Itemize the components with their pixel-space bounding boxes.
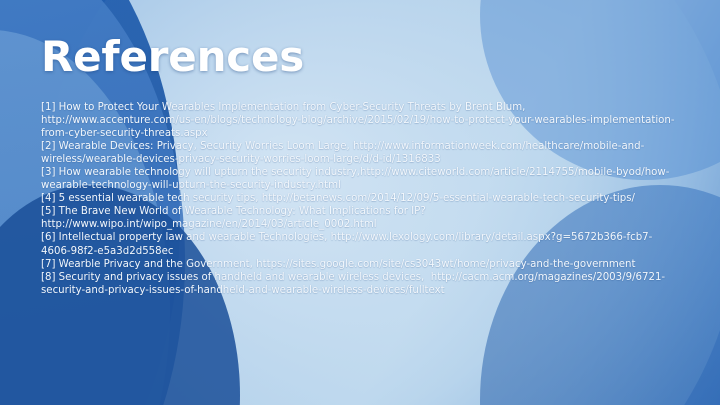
list-item: [2] Wearable Devices: Privacy, Security …	[41, 140, 681, 166]
reference-list: [1] How to Protect Your Wearables Implem…	[41, 101, 681, 297]
presentation-slide: References [1] How to Protect Your Weara…	[0, 0, 720, 405]
list-item: [3] How wearable technology will upturn …	[41, 166, 681, 192]
list-item: [6] Intellectual property law and wearab…	[41, 231, 681, 257]
list-item: [1] How to Protect Your Wearables Implem…	[41, 101, 681, 140]
list-item: [4] 5 essential wearable tech security t…	[41, 192, 681, 205]
page-title: References	[41, 35, 304, 79]
slide-content: References [1] How to Protect Your Weara…	[0, 0, 720, 405]
list-item: [5] The Brave New World of Wearable Tech…	[41, 205, 681, 231]
list-item: [8] Security and privacy issues of handh…	[41, 271, 681, 297]
list-item: [7] Wearble Privacy and the Government, …	[41, 258, 681, 271]
